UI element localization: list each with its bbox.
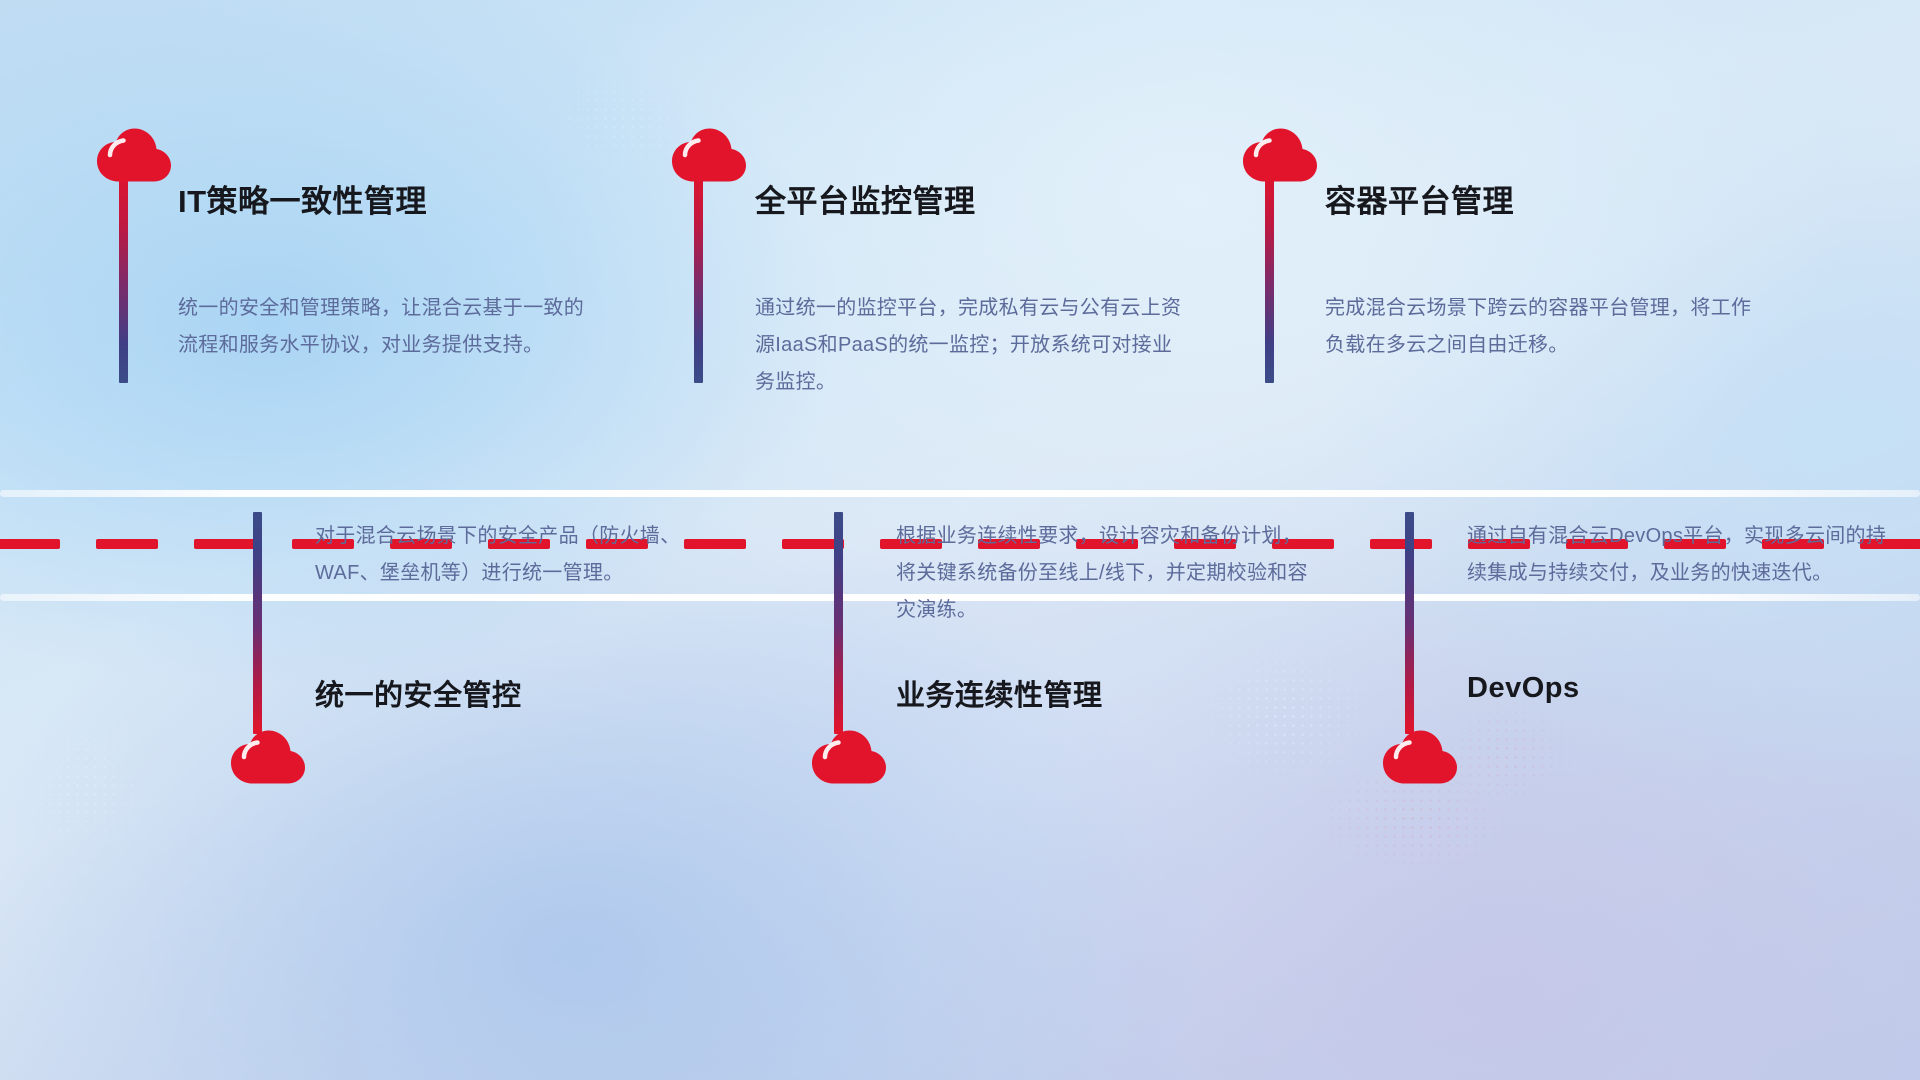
connector-stem xyxy=(1405,512,1414,734)
feature-title: IT策略一致性管理 xyxy=(178,176,427,221)
infographic-canvas: IT策略一致性管理 统一的安全和管理策略，让混合云基于一致的流程和服务水平协议，… xyxy=(0,0,1920,1080)
cloud-pin-icon xyxy=(96,128,172,184)
feature-description: 通过自有混合云DevOps平台，实现多云间的持续集成与持续交付，及业务的快速迭代… xyxy=(1467,518,1887,592)
connector-stem xyxy=(119,168,128,383)
cloud-pin-icon xyxy=(811,730,887,786)
divider-dash xyxy=(96,539,158,549)
feature-title: DevOps xyxy=(1467,672,1580,705)
feature-description: 对于混合云场景下的安全产品（防火墙、WAF、堡垒机等）进行统一管理。 xyxy=(315,518,735,592)
feature-title: 容器平台管理 xyxy=(1325,176,1514,221)
cloud-pin-icon xyxy=(230,730,306,786)
dot-texture-decoration xyxy=(1190,640,1380,790)
divider-rule-top xyxy=(0,490,1920,497)
feature-title: 全平台监控管理 xyxy=(755,176,976,221)
feature-description: 完成混合云场景下跨云的容器平台管理，将工作负载在多云之间自由迁移。 xyxy=(1325,290,1755,364)
divider-dash xyxy=(194,539,256,549)
connector-stem xyxy=(834,512,843,734)
dot-texture-decoration xyxy=(10,700,160,870)
feature-title: 业务连续性管理 xyxy=(896,672,1103,714)
divider-dash xyxy=(0,539,60,549)
divider-dash xyxy=(1370,539,1432,549)
cloud-pin-icon xyxy=(671,128,747,184)
feature-description: 根据业务连续性要求，设计容灾和备份计划，将关键系统备份至线上/线下，并定期校验和… xyxy=(896,518,1316,629)
feature-description: 通过统一的监控平台，完成私有云与公有云上资源IaaS和PaaS的统一监控；开放系… xyxy=(755,290,1190,401)
cloud-pin-icon xyxy=(1242,128,1318,184)
connector-stem xyxy=(1265,168,1274,383)
cloud-pin-icon xyxy=(1382,730,1458,786)
feature-title: 统一的安全管控 xyxy=(315,672,522,714)
feature-description: 统一的安全和管理策略，让混合云基于一致的流程和服务水平协议，对业务提供支持。 xyxy=(178,290,598,364)
connector-stem xyxy=(694,168,703,383)
connector-stem xyxy=(253,512,262,734)
